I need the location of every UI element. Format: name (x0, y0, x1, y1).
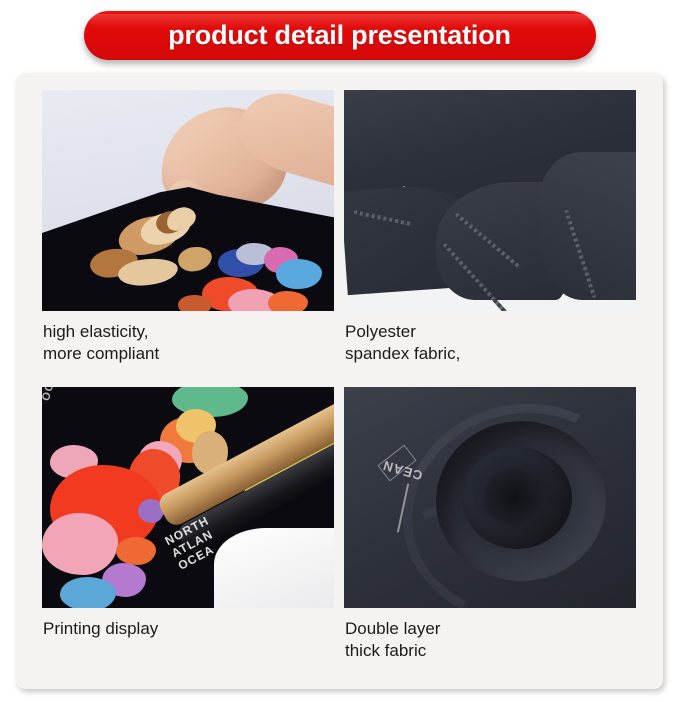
photo-hand-stretching-map-fabric (42, 90, 334, 311)
detail-cell-1: high elasticity, more compliant (42, 90, 334, 377)
photo-grid: high elasticity, more compliant Polyeste… (42, 90, 637, 674)
detail-caption-1: high elasticity, more compliant (42, 311, 334, 377)
banner-container: product detail presentation (0, 11, 679, 60)
detail-caption-2: Polyester spandex fabric, (344, 311, 636, 377)
banner-title: product detail presentation (168, 20, 511, 51)
detail-card: high elasticity, more compliant Polyeste… (16, 73, 663, 689)
map-region-shape (42, 513, 118, 575)
map-ocean-edge-label: OCEANO (42, 387, 66, 402)
map-fabric-shape (42, 187, 334, 311)
background-surface-shape (214, 528, 334, 608)
map-region-shape (178, 295, 212, 311)
detail-caption-3: Printing display (42, 608, 334, 674)
map-region-shape (176, 244, 214, 274)
map-region-shape (116, 537, 156, 565)
photo-draped-hem-fabric (344, 90, 636, 311)
photo-folded-printed-fabric: OCEANO NORTH ATLAN OCEA (42, 387, 334, 608)
detail-cell-4: CEAN Double layer thick fabric (344, 387, 636, 674)
photo-swirl-thick-fabric: CEAN (344, 387, 636, 608)
product-detail-banner: product detail presentation (84, 11, 596, 60)
map-region-shape (60, 577, 116, 608)
map-region-shape (276, 259, 322, 289)
map-region-shape (268, 291, 308, 311)
detail-caption-4: Double layer thick fabric (344, 608, 636, 674)
detail-cell-3: OCEANO NORTH ATLAN OCEA Printing display (42, 387, 334, 674)
detail-cell-2: Polyester spandex fabric, (344, 90, 636, 377)
fabric-swirl-shape (484, 469, 546, 527)
